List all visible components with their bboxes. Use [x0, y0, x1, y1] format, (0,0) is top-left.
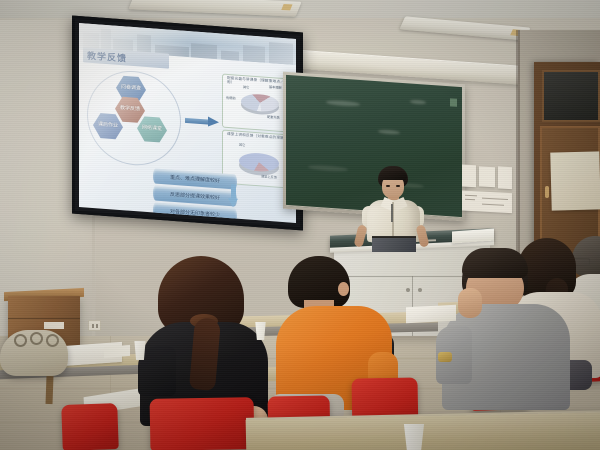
red-chair-left-center[interactable]: [150, 397, 255, 450]
paper-stack-left-2: [104, 345, 130, 358]
arrow-down-icon: [229, 184, 238, 209]
pie-label-feedback: 课堂上反馈: [261, 175, 277, 180]
chart-panel-top: 配套光盘与讲课录（理解重难点／作用） 其它 有帮助 基本理解 配套光盘: [222, 74, 292, 133]
arrow-right-icon: [185, 116, 219, 126]
pie-label-helpful: 有帮助: [226, 97, 236, 101]
red-chair-left[interactable]: [61, 403, 119, 450]
presenter-arm-right: [415, 224, 429, 248]
presenter-arm-left: [353, 224, 367, 248]
presenter-trousers: [372, 238, 416, 252]
presenter: [352, 166, 432, 250]
classroom-photo: BenQ 教学反馈 问卷调查 教学反馈 课后作业 网络: [0, 0, 600, 450]
cabinet-seam: [8, 318, 80, 319]
wall-outlet: [88, 320, 101, 331]
ear: [338, 282, 349, 296]
pie-label-other: 其它: [243, 86, 249, 90]
pie-label-other-2: 其它: [239, 144, 245, 148]
wristwatch: [438, 352, 452, 362]
projection-screen: 教学反馈 问卷调查 教学反馈 课后作业 网络课堂 配套光盘与讲课录（理解重难点／…: [72, 16, 303, 231]
chart-caption-bottom: 课堂上讲和反馈（对重难点的理解）: [227, 133, 288, 141]
pie-label-disc: 配套光盘: [267, 116, 280, 120]
presenter-fringe: [379, 171, 407, 180]
cabinet-label: [44, 322, 64, 329]
paper-stack-mid: [406, 305, 456, 324]
handbag: [0, 330, 68, 376]
presenter-lanyard: [391, 204, 393, 222]
door-transom-window: [542, 70, 600, 122]
light-end-cap: [281, 4, 292, 10]
audience-man-grey-tshirt: [440, 248, 576, 418]
hair-top: [462, 248, 528, 278]
hand-on-face: [458, 288, 482, 318]
blackboard-clip: [450, 98, 457, 106]
door-handle[interactable]: [545, 186, 549, 198]
pie-label-basic: 基本理解: [269, 86, 282, 90]
desk-leg: [46, 376, 54, 404]
wall-posters: [462, 165, 518, 222]
door-notice: [550, 151, 600, 210]
slide-surface: 教学反馈 问卷调查 教学反馈 课后作业 网络课堂 配套光盘与讲课录（理解重难点／…: [79, 23, 296, 223]
